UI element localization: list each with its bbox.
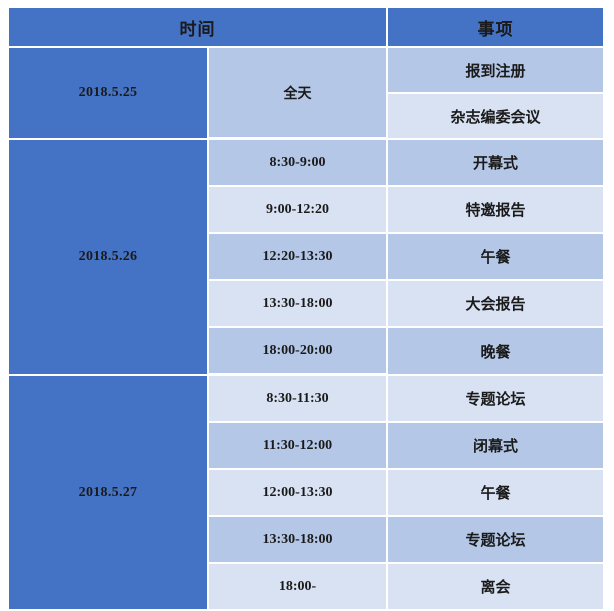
item-cell: 午餐: [388, 470, 605, 517]
item-cell: 报到注册: [388, 48, 605, 94]
item-cell: 午餐: [388, 234, 605, 281]
item-cell: 大会报告: [388, 281, 605, 328]
time-cell: 13:30-18:00: [209, 281, 388, 328]
time-cell: 8:30-9:00: [209, 140, 388, 187]
time-cell: 18:00-20:00: [209, 328, 388, 376]
table-row: 2018.5.278:30-11:30专题论坛: [9, 376, 605, 423]
table-row: 2018.5.268:30-9:00开幕式: [9, 140, 605, 187]
item-cell: 特邀报告: [388, 187, 605, 234]
table-body: 2018.5.25全天报到注册杂志编委会议2018.5.268:30-9:00开…: [9, 48, 605, 611]
date-cell: 2018.5.27: [9, 376, 209, 611]
item-cell: 闭幕式: [388, 423, 605, 470]
header-row: 时间 事项: [9, 8, 605, 48]
column-header-time: 时间: [9, 8, 388, 48]
time-cell: 13:30-18:00: [209, 517, 388, 564]
item-cell: 杂志编委会议: [388, 94, 605, 140]
time-cell: 9:00-12:20: [209, 187, 388, 234]
item-cell: 开幕式: [388, 140, 605, 187]
table-row: 2018.5.25全天报到注册: [9, 48, 605, 94]
item-cell: 专题论坛: [388, 376, 605, 423]
time-cell: 全天: [209, 48, 388, 140]
time-cell: 12:20-13:30: [209, 234, 388, 281]
time-cell: 11:30-12:00: [209, 423, 388, 470]
time-cell: 8:30-11:30: [209, 376, 388, 423]
time-cell: 18:00-: [209, 564, 388, 611]
item-cell: 晚餐: [388, 328, 605, 376]
date-cell: 2018.5.26: [9, 140, 209, 376]
date-cell: 2018.5.25: [9, 48, 209, 140]
time-cell: 12:00-13:30: [209, 470, 388, 517]
column-header-item: 事项: [388, 8, 605, 48]
table-header: 时间 事项: [9, 8, 605, 48]
item-cell: 专题论坛: [388, 517, 605, 564]
conference-schedule-table: 时间 事项 2018.5.25全天报到注册杂志编委会议2018.5.268:30…: [9, 8, 605, 611]
item-cell: 离会: [388, 564, 605, 611]
